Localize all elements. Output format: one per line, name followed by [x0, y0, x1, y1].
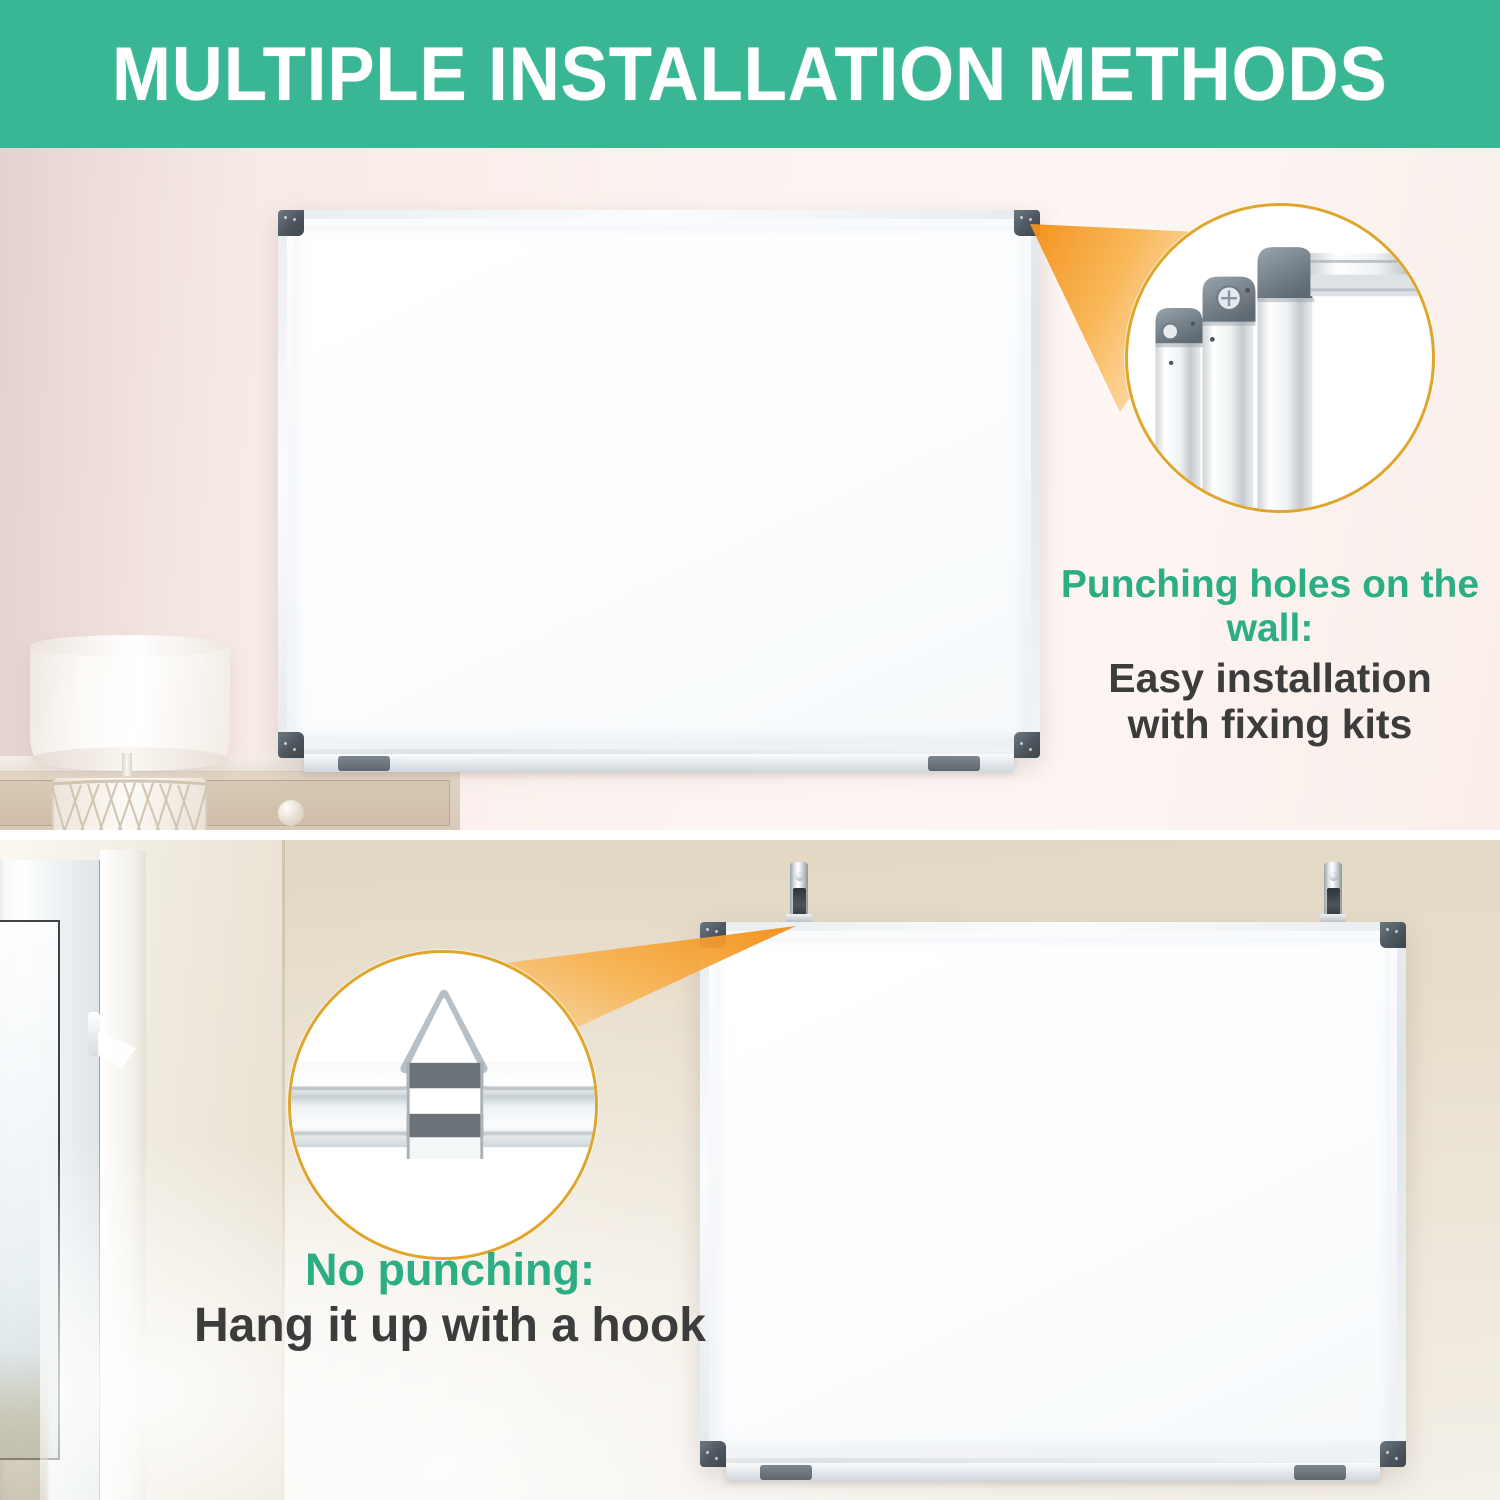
frame-corner-icon [1014, 732, 1040, 758]
door-latch-icon [96, 1028, 176, 1108]
top-panel: Punching holes on the wall: Easy install… [0, 148, 1500, 834]
frame-corner-icon [278, 210, 304, 236]
frame-corner-icon [278, 732, 304, 758]
door-jamb [100, 850, 146, 1500]
hook-tongue [1327, 888, 1340, 916]
pen-tray-icon [726, 1463, 1380, 1481]
bottom-panel: No punching: Hang it up with a hook [0, 840, 1500, 1500]
wall-corner-edge [282, 840, 285, 1500]
panel-divider [0, 830, 1500, 840]
wall-hook-icon [1320, 862, 1346, 926]
caption-body-line-1: Hang it up with a hook [150, 1299, 750, 1353]
hook-screw [795, 872, 804, 881]
caption-body-line-1: Easy installation [1060, 656, 1480, 702]
whiteboard-top[interactable] [278, 210, 1040, 758]
drawer-knob-icon [278, 800, 304, 826]
pen-tray-end-cap [1294, 1465, 1346, 1480]
glass-door [0, 860, 102, 1500]
hook-screw [1329, 872, 1338, 881]
top-panel-caption: Punching holes on the wall: Easy install… [1060, 563, 1480, 748]
pen-tray-end-cap [928, 756, 980, 771]
magnifier-circle-icon [1125, 203, 1435, 513]
frame-corner-icon [700, 1441, 726, 1467]
wall-hook-icon [786, 862, 812, 926]
header-banner: MULTIPLE INSTALLATION METHODS [0, 0, 1500, 148]
frame-corner-icon [1380, 1441, 1406, 1467]
lamp-shade [30, 643, 230, 761]
pen-tray-icon [304, 754, 1014, 772]
pen-tray-end-cap [338, 756, 390, 771]
caption-body-line-2: with fixing kits [1060, 702, 1480, 748]
pen-tray-end-cap [760, 1465, 812, 1480]
caption-highlight: Punching holes on the wall: [1060, 563, 1480, 650]
caption-highlight: No punching: [150, 1245, 750, 1295]
bottom-panel-caption: No punching: Hang it up with a hook [150, 1245, 750, 1353]
outdoor-foliage [0, 1352, 48, 1500]
whiteboard-bottom[interactable] [700, 922, 1406, 1467]
lamp-wire-cage-base [52, 776, 207, 834]
frame-corner-icon [1380, 922, 1406, 948]
whiteboard-writing-surface[interactable] [716, 938, 1390, 1447]
magnifier-circle-icon [288, 950, 598, 1260]
hook-tongue [793, 888, 806, 916]
whiteboard-writing-surface[interactable] [294, 226, 1024, 738]
page-title: MULTIPLE INSTALLATION METHODS [112, 31, 1388, 118]
door-glass-pane [0, 920, 60, 1460]
